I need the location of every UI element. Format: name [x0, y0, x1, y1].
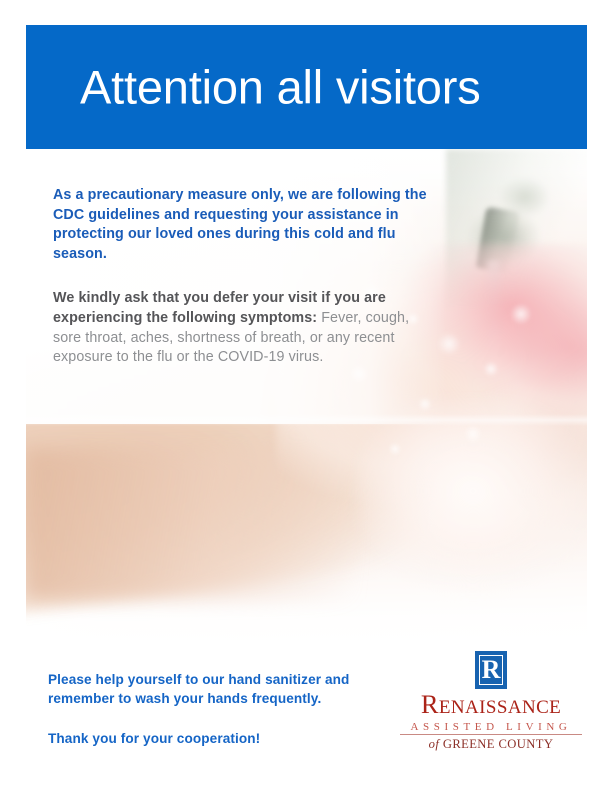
- header-banner: Attention all visitors: [26, 25, 587, 149]
- logo-tagline: ASSISTED LIVING: [400, 719, 582, 735]
- renaissance-logo: R Renaissance ASSISTED LIVING of GREENE …: [396, 651, 586, 752]
- footer-message: Please help yourself to our hand sanitiz…: [48, 671, 398, 749]
- logo-company-name: Renaissance: [396, 691, 586, 718]
- thank-you-text: Thank you for your cooperation!: [48, 708, 398, 749]
- body-copy: As a precautionary measure only, we are …: [53, 186, 428, 368]
- poster-page: Attention all visitors As a precautionar…: [0, 0, 612, 792]
- logo-county-prefix: of: [429, 737, 440, 751]
- logo-county-name: GREENE COUNTY: [443, 737, 554, 751]
- page-title: Attention all visitors: [80, 64, 481, 111]
- logo-mark-letter: R: [482, 657, 501, 683]
- symptoms-paragraph: We kindly ask that you defer your visit …: [53, 264, 428, 367]
- logo-r-mark-icon: R: [475, 651, 507, 689]
- sanitizer-reminder-text: Please help yourself to our hand sanitiz…: [48, 671, 398, 708]
- logo-county-line: of GREENE COUNTY: [396, 735, 586, 752]
- precaution-paragraph: As a precautionary measure only, we are …: [53, 186, 428, 264]
